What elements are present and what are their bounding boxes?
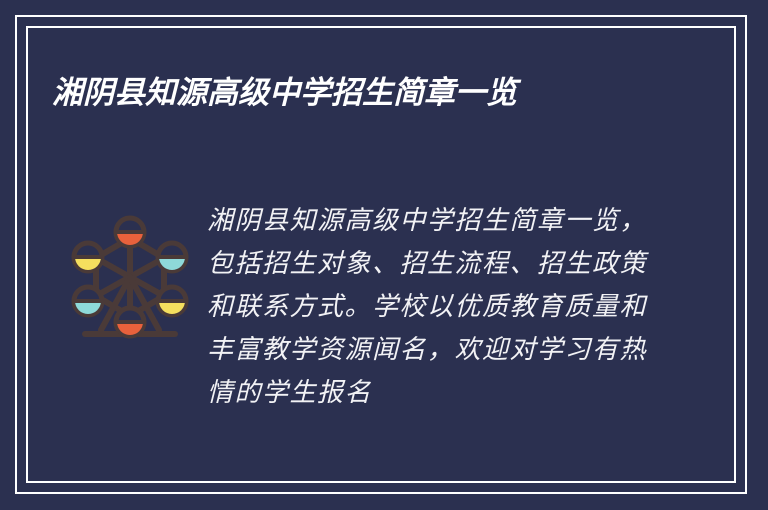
ferris-cabin-upper-left (74, 243, 102, 271)
ferris-cabin-top (116, 218, 144, 246)
body-paragraph: 湘阴县知源高级中学招生简章一览，包括招生对象、招生流程、招生政策和联系方式。学校… (207, 200, 672, 415)
page-title: 湘阴县知源高级中学招生简章一览 (52, 66, 592, 121)
ferris-wheel-icon (71, 210, 189, 342)
illustration-container (52, 200, 207, 342)
ferris-cabin-bottom (116, 308, 144, 336)
content-row: 湘阴县知源高级中学招生简章一览，包括招生对象、招生流程、招生政策和联系方式。学校… (52, 200, 672, 415)
ferris-cabin-lower-left (74, 287, 102, 315)
ferris-cabin-lower-right (158, 287, 186, 315)
ferris-cabin-upper-right (158, 243, 186, 271)
